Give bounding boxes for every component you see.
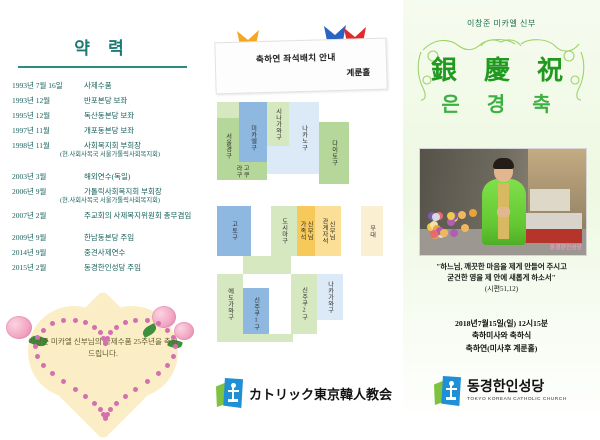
church-logo-icon [216, 378, 244, 408]
seating-header-card: 축하연 좌석배치 안내 계룬홀 [214, 38, 387, 95]
history-row: 2009년 9월한남동본당 주임 [12, 234, 205, 242]
flower-icon [461, 224, 469, 232]
event-details: 2018년7월15일(일) 12시15분 축하미사와 축하식 축하연(미사후 계… [411, 318, 592, 355]
seating-cell-label: 신부님 관계자석 [321, 218, 335, 244]
history-date: 2014년 9월 [12, 249, 84, 257]
history-row: 1993년 12월반포본당 보좌 [12, 97, 205, 105]
history-event: 중견사제연수 [84, 249, 125, 257]
history-row: 1993년 7월 16일사제수품 [12, 82, 205, 90]
priest-name: 이창준 미카엘 신부 [403, 18, 600, 29]
seating-cell: 에도가와구 [217, 274, 243, 334]
history-date: 1993년 7월 16일 [12, 82, 84, 90]
seating-cell: 다이토구 [319, 122, 349, 184]
scripture-verse: "하느님, 깨끗한 마음을 제게 만들어 주시고 굳건한 영을 제 안에 새롭게… [411, 262, 592, 295]
history-date: 2006년 9월 [12, 188, 84, 196]
history-row: 2003년 3월해외연수(독일) [12, 173, 205, 181]
seating-cell: 무대 [361, 206, 383, 256]
seating-cell-label: 다이토구 [330, 140, 337, 166]
petal-dot-icon [165, 328, 170, 333]
flower-icon [469, 209, 477, 217]
seating-cell-label: 서울경구 [224, 133, 231, 159]
petal-dot-icon [98, 407, 103, 412]
history-event: 주교회의 사제복지위원회 총무겸임 [84, 212, 191, 220]
seating-cell-label: 신부님 가족석 [299, 221, 313, 241]
history-event: 사회복지회 부회장 [84, 142, 141, 150]
seating-filler [217, 102, 239, 118]
rose-icon [6, 316, 32, 339]
seating-cell-label: 나카가와구 [326, 281, 333, 314]
history-event: 해외연수(독일) [84, 173, 130, 181]
seating-cell: 고토구 [217, 206, 251, 256]
history-date: 1997년 11월 [12, 127, 84, 135]
history-event: 반포본당 보좌 [84, 97, 127, 105]
petal-dot-icon [73, 387, 78, 392]
verse-line-1: "하느님, 깨끗한 마음을 제게 만들어 주시고 [411, 262, 592, 273]
flower-icon [440, 229, 448, 237]
logo-row: カトリック東京韓人教会 동경한인성당 TOKYO KOREAN CATHOLIC… [0, 376, 600, 416]
history-event: 개포동본당 보좌 [84, 127, 134, 135]
event-datetime: 2018년7월15일(일) 12시15분 [411, 318, 592, 330]
history-row: 2014년 9월중견사제연수 [12, 249, 205, 257]
history-date: 1993년 12월 [12, 97, 84, 105]
seating-cell-label: 신주쿠1구 [252, 297, 259, 330]
petal-dot-icon [35, 354, 40, 359]
flower-icon [458, 211, 466, 219]
history-row: 1998년 11월사회복지회 부회장 [12, 142, 205, 150]
history-date: 2003년 3월 [12, 173, 84, 181]
seating-cell: 신부님 관계자석 [315, 206, 341, 256]
page-title-history: 약 력 [0, 34, 205, 59]
history-event: 독산동본당 보좌 [84, 112, 134, 120]
title-divider [18, 66, 187, 68]
priest-photo: 동경한인성당 [419, 148, 587, 256]
seating-cell: 신주쿠1구 [243, 288, 269, 340]
petal-dot-icon [73, 318, 78, 323]
middle-panel: 축하연 좌석배치 안내 계룬홀 서울경구미카엘구시나가와구나카노구다이토구고쿠라… [205, 0, 403, 424]
history-event: 사제수품 [84, 82, 112, 90]
petal-dot-icon [108, 407, 113, 412]
logo-tokyo-korean-church-jp: カトリック東京韓人教会 [216, 378, 392, 408]
history-row: 1995년 12월독산동본당 보좌 [12, 112, 205, 120]
seating-filler [267, 146, 289, 174]
seating-cell-label: 고토구 [230, 221, 237, 241]
seating-cell: 도시마구 [271, 206, 297, 256]
event-mass: 축하미사와 축하식 [411, 330, 592, 342]
seating-cell-label: 시나가와구 [274, 108, 281, 141]
flower-icon [447, 212, 455, 220]
history-date: 2007년 2월 [12, 212, 84, 220]
seating-cell: 나카노구 [289, 102, 319, 174]
petal-dot-icon [165, 363, 170, 368]
petal-dot-icon [103, 341, 108, 346]
history-event: 가톨릭사회복지회 부회장 [84, 188, 162, 196]
seating-cell: 고쿠라구 [217, 162, 267, 180]
logo-tokyo-korean-church-kr: 동경한인성당 TOKYO KOREAN CATHOLIC CHURCH [434, 376, 567, 406]
petal-dot-icon [123, 320, 128, 325]
history-subnote: (현.사회사목국 서울가톨릭사회복지회) [60, 152, 205, 158]
petal-dot-icon [92, 401, 97, 406]
brochure-page: 약 력 1993년 7월 16일사제수품1993년 12월반포본당 보좌1995… [0, 0, 600, 424]
seating-header-venue: 계룬홀 [346, 66, 370, 79]
seating-cell: 시나가와구 [267, 102, 289, 146]
seating-cell-label: 무대 [368, 225, 375, 238]
petal-dot-icon [41, 328, 46, 333]
petal-dot-icon [171, 354, 176, 359]
logo-label-kr: 동경한인성당 [467, 381, 567, 395]
seating-cell-label: 나카노구 [300, 125, 307, 151]
history-date: 2015년 2월 [12, 264, 84, 272]
history-date: 1995년 12월 [12, 112, 84, 120]
verse-reference: (시편51,12) [411, 284, 592, 294]
verse-line-2: 굳건한 영을 제 안에 새롭게 하소서" [411, 273, 592, 284]
petal-dot-icon [41, 363, 46, 368]
right-panel: 이창준 미카엘 신부 銀 慶 祝 은 경 축 [403, 0, 600, 424]
history-date: 2009년 9월 [12, 234, 84, 242]
left-panel: 약 력 1993년 7월 16일사제수품1993년 12월반포본당 보좌1995… [0, 0, 205, 424]
seating-cell-label: 에도가와구 [226, 288, 233, 321]
hanja-title: 銀 慶 祝 [403, 50, 600, 87]
petal-dot-icon [92, 325, 97, 330]
history-row: 2015년 2월동경한인성당 주임 [12, 264, 205, 272]
photo-watermark: 동경한인성당 [550, 243, 582, 251]
seating-cell: 신주쿠2구 [291, 274, 317, 334]
history-row: 2007년 2월주교회의 사제복지위원회 총무겸임 [12, 212, 205, 220]
hangul-title: 은 경 축 [403, 88, 600, 117]
logo-label-jp: カトリック東京韓人教会 [249, 384, 392, 403]
logo-label-en: TOKYO KOREAN CATHOLIC CHURCH [467, 397, 567, 402]
history-event: 동경한인성당 주임 [84, 264, 141, 272]
petal-dot-icon [114, 325, 119, 330]
seating-cell-label: 도시마구 [280, 218, 287, 244]
seating-cell-label: 미카엘구 [249, 125, 256, 151]
seating-cell-label: 신주쿠2구 [300, 287, 307, 320]
history-row: 2006년 9월가톨릭사회복지회 부회장 [12, 188, 205, 196]
flower-icon [450, 229, 458, 237]
petal-dot-icon [123, 394, 128, 399]
history-date: 1998년 11월 [12, 142, 84, 150]
history-list: 1993년 7월 16일사제수품1993년 12월반포본당 보좌1995년 12… [12, 82, 205, 271]
petal-dot-icon [145, 318, 150, 323]
seating-chart: 서울경구미카엘구시나가와구나카노구다이토구고쿠라구고토구도시마구신부님 가족석신… [211, 96, 403, 356]
seating-cell: 나카가와구 [317, 274, 343, 320]
flower-icon [430, 230, 438, 238]
flower-bouquet [424, 207, 478, 241]
history-subnote: (현.사회사목국 서울가톨릭사회복지회) [60, 198, 205, 204]
seating-filler [217, 334, 293, 342]
seating-header-title: 축하연 좌석배치 안내 [216, 50, 376, 66]
event-banquet: 축하연(미사후 계룬홀) [411, 343, 592, 355]
seating-cell: 신부님 가족석 [297, 206, 315, 256]
seating-cell-label: 고쿠라구 [235, 162, 249, 180]
rose-icon [174, 322, 194, 340]
history-event: 한남동본당 주임 [84, 234, 134, 242]
history-row: 1997년 11월개포동본당 보좌 [12, 127, 205, 135]
church-logo-icon [434, 376, 462, 406]
seating-filler [243, 256, 291, 274]
